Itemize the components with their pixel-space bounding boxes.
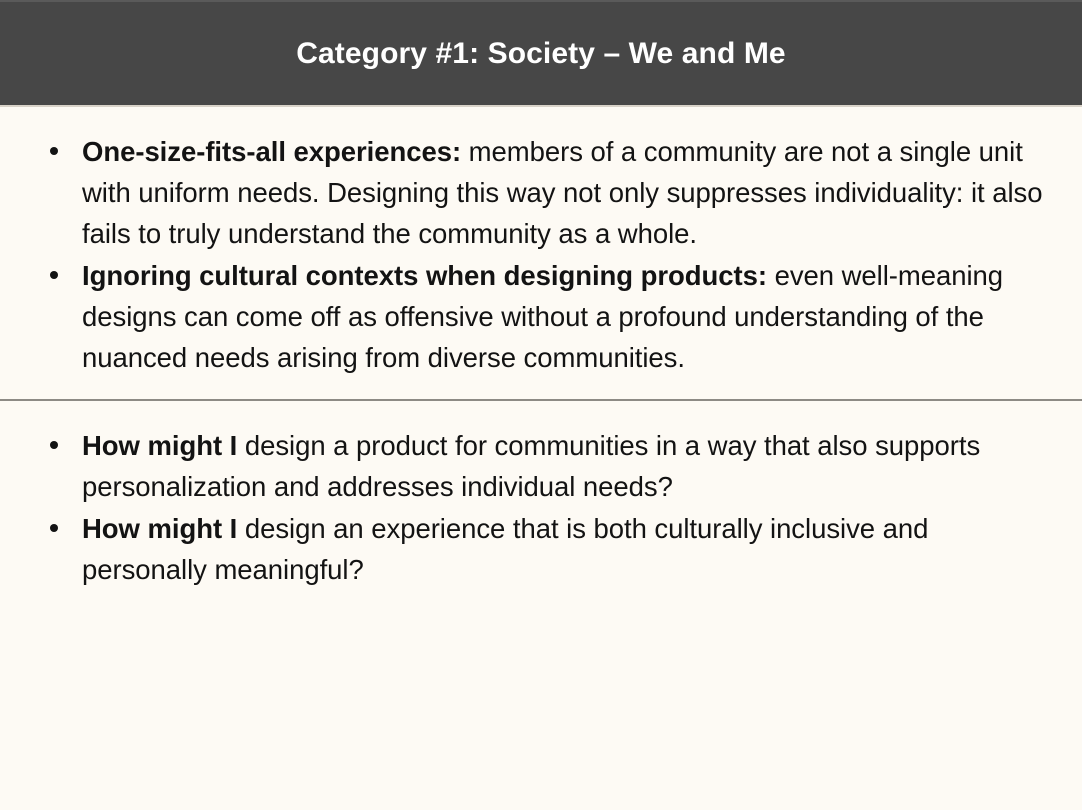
bullet-lead: How might I <box>82 430 237 461</box>
bullet-dot-icon <box>50 147 58 155</box>
list-item: Ignoring cultural contexts when designin… <box>28 255 1060 378</box>
list-item: How might I design an experience that is… <box>28 508 1060 590</box>
problems-section: One-size-fits-all experiences: members o… <box>0 107 1082 399</box>
slide: Category #1: Society – We and Me One-siz… <box>0 0 1082 810</box>
bullet-dot-icon <box>50 524 58 532</box>
list-item: One-size-fits-all experiences: members o… <box>28 131 1060 254</box>
questions-section: How might I design a product for communi… <box>0 401 1082 591</box>
slide-body: One-size-fits-all experiences: members o… <box>0 107 1082 810</box>
problems-bullet-list: One-size-fits-all experiences: members o… <box>28 131 1060 378</box>
page-title: Category #1: Society – We and Me <box>296 36 785 72</box>
bullet-lead: One-size-fits-all experiences: <box>82 136 461 167</box>
bullet-lead: How might I <box>82 513 237 544</box>
list-item: How might I design a product for communi… <box>28 425 1060 507</box>
bullet-dot-icon <box>50 441 58 449</box>
bullet-lead: Ignoring cultural contexts when designin… <box>82 260 767 291</box>
questions-bullet-list: How might I design a product for communi… <box>28 425 1060 590</box>
slide-header-bar: Category #1: Society – We and Me <box>0 0 1082 107</box>
bullet-dot-icon <box>50 271 58 279</box>
